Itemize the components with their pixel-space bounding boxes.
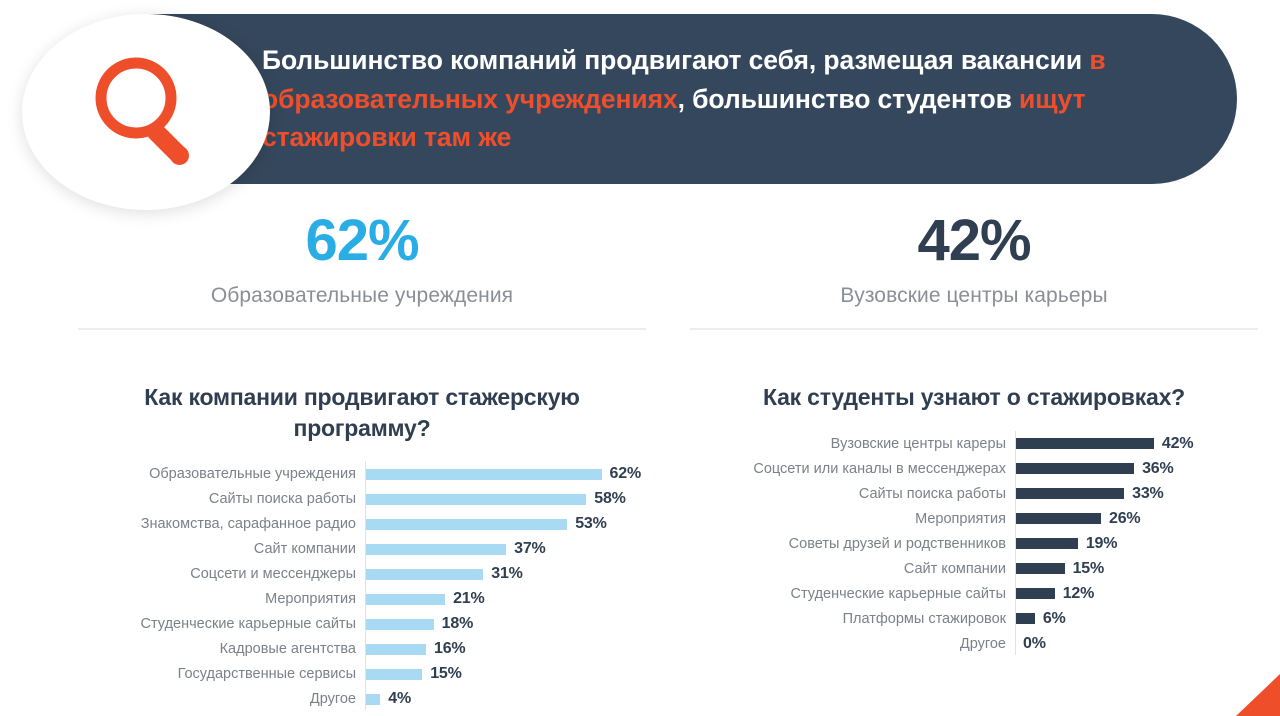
bar-label: Соцсети и мессенджеры bbox=[78, 566, 365, 582]
bar-row: Соцсети и мессенджеры31% bbox=[78, 565, 646, 583]
bar-track: 26% bbox=[1015, 510, 1258, 528]
stat-block-career-centers: 42% Вузовские центры карьеры bbox=[690, 212, 1258, 330]
bar-label: Образовательные учреждения bbox=[78, 466, 365, 482]
bar-value: 0% bbox=[1023, 635, 1046, 653]
bar-value: 26% bbox=[1109, 510, 1140, 528]
bar-fill bbox=[365, 694, 380, 705]
bar-label: Сайты поиска работы bbox=[690, 486, 1015, 502]
header-banner: Большинство компаний продвигают себя, ра… bbox=[150, 14, 1237, 184]
chart-companies: Как компании продвигают стажерскую прогр… bbox=[78, 382, 646, 715]
bar-label: Знакомства, сарафанное радио bbox=[78, 516, 365, 532]
bar-fill bbox=[365, 469, 602, 480]
bar-track: 19% bbox=[1015, 535, 1258, 553]
bar-value: 15% bbox=[430, 665, 461, 683]
chart-title: Как компании продвигают стажерскую прогр… bbox=[78, 382, 646, 443]
header-title-run: Большинство компаний продвигают себя, ра… bbox=[262, 45, 1089, 75]
bar-value: 37% bbox=[514, 540, 545, 558]
bar-fill bbox=[1015, 463, 1134, 474]
bar-label: Другое bbox=[690, 636, 1015, 652]
bar-track: 6% bbox=[1015, 610, 1258, 628]
bar-value: 62% bbox=[610, 465, 641, 483]
bar-label: Мероприятия bbox=[690, 511, 1015, 527]
bar-value: 18% bbox=[442, 615, 473, 633]
bar-fill bbox=[365, 544, 506, 555]
bar-value: 15% bbox=[1073, 560, 1104, 578]
bar-track: 33% bbox=[1015, 485, 1258, 503]
stat-block-education: 62% Образовательные учреждения bbox=[78, 212, 646, 330]
bar-fill bbox=[365, 519, 567, 530]
bar-label: Сайты поиска работы bbox=[78, 491, 365, 507]
bar-label: Другое bbox=[78, 691, 365, 707]
chart-title: Как студенты узнают о стажировках? bbox=[690, 382, 1258, 413]
corner-accent-triangle bbox=[1236, 674, 1280, 716]
bar-row: Кадровые агентства16% bbox=[78, 640, 646, 658]
stat-value: 62% bbox=[78, 212, 646, 270]
magnifier-badge bbox=[22, 14, 270, 210]
bar-row: Сайты поиска работы33% bbox=[690, 485, 1258, 503]
bar-fill bbox=[365, 494, 586, 505]
bar-rows: Образовательные учреждения62%Сайты поиск… bbox=[78, 465, 646, 708]
bar-value: 12% bbox=[1063, 585, 1094, 603]
bar-fill bbox=[365, 619, 434, 630]
bar-row: Советы друзей и родственников19% bbox=[690, 535, 1258, 553]
bar-row: Другое4% bbox=[78, 690, 646, 708]
bar-row: Другое0% bbox=[690, 635, 1258, 653]
bar-label: Сайт компании bbox=[78, 541, 365, 557]
bar-fill bbox=[365, 569, 483, 580]
bar-track: 21% bbox=[365, 590, 646, 608]
bar-row: Государственные сервисы15% bbox=[78, 665, 646, 683]
bar-value: 19% bbox=[1086, 535, 1117, 553]
bar-row: Мероприятия21% bbox=[78, 590, 646, 608]
bar-row: Образовательные учреждения62% bbox=[78, 465, 646, 483]
bar-track: 53% bbox=[365, 515, 646, 533]
bar-value: 4% bbox=[388, 690, 411, 708]
bar-fill bbox=[1015, 488, 1124, 499]
bar-row: Сайты поиска работы58% bbox=[78, 490, 646, 508]
bar-track: 4% bbox=[365, 690, 646, 708]
bar-track: 31% bbox=[365, 565, 646, 583]
bar-label: Платформы стажировок bbox=[690, 611, 1015, 627]
bar-value: 21% bbox=[453, 590, 484, 608]
bar-track: 15% bbox=[365, 665, 646, 683]
header-title-run: , большинство студентов bbox=[678, 84, 1019, 114]
bar-label: Сайт компании bbox=[690, 561, 1015, 577]
bar-row: Вузовские центры кареры42% bbox=[690, 435, 1258, 453]
bar-fill bbox=[365, 644, 426, 655]
stat-divider bbox=[690, 328, 1258, 330]
stat-label: Вузовские центры карьеры bbox=[690, 284, 1258, 308]
bar-track: 18% bbox=[365, 615, 646, 633]
bar-row: Платформы стажировок6% bbox=[690, 610, 1258, 628]
bar-track: 12% bbox=[1015, 585, 1258, 603]
bar-fill bbox=[365, 594, 445, 605]
bar-value: 53% bbox=[575, 515, 606, 533]
bar-row: Студенческие карьерные сайты12% bbox=[690, 585, 1258, 603]
bar-track: 16% bbox=[365, 640, 646, 658]
bar-value: 33% bbox=[1132, 485, 1163, 503]
magnifier-icon bbox=[80, 46, 212, 178]
bar-row: Студенческие карьерные сайты18% bbox=[78, 615, 646, 633]
bar-row: Знакомства, сарафанное радио53% bbox=[78, 515, 646, 533]
bar-fill bbox=[1015, 613, 1035, 624]
bar-track: 58% bbox=[365, 490, 646, 508]
bar-track: 15% bbox=[1015, 560, 1258, 578]
stat-divider bbox=[78, 328, 646, 330]
bar-track: 42% bbox=[1015, 435, 1258, 453]
header-title: Большинство компаний продвигают себя, ра… bbox=[262, 41, 1177, 156]
bar-label: Студенческие карьерные сайты bbox=[690, 586, 1015, 602]
bar-label: Мероприятия bbox=[78, 591, 365, 607]
bar-value: 16% bbox=[434, 640, 465, 658]
bar-fill bbox=[1015, 563, 1065, 574]
bar-value: 36% bbox=[1142, 460, 1173, 478]
bar-track: 62% bbox=[365, 465, 646, 483]
bar-fill bbox=[365, 669, 422, 680]
bar-value: 6% bbox=[1043, 610, 1066, 628]
bar-track: 0% bbox=[1015, 635, 1258, 653]
bar-label: Студенческие карьерные сайты bbox=[78, 616, 365, 632]
bar-row: Сайт компании37% bbox=[78, 540, 646, 558]
bar-fill bbox=[1015, 438, 1154, 449]
bar-label: Соцсети или каналы в мессенджерах bbox=[690, 461, 1015, 477]
bar-row: Мероприятия26% bbox=[690, 510, 1258, 528]
bar-track: 36% bbox=[1015, 460, 1258, 478]
bar-value: 42% bbox=[1162, 435, 1193, 453]
bar-fill bbox=[1015, 538, 1078, 549]
bar-label: Советы друзей и родственников bbox=[690, 536, 1015, 552]
bar-rows: Вузовские центры кареры42%Соцсети или ка… bbox=[690, 435, 1258, 653]
bar-row: Сайт компании15% bbox=[690, 560, 1258, 578]
bar-fill bbox=[1015, 588, 1055, 599]
stat-label: Образовательные учреждения bbox=[78, 284, 646, 308]
bar-label: Кадровые агентства bbox=[78, 641, 365, 657]
bar-track: 37% bbox=[365, 540, 646, 558]
bar-fill bbox=[1015, 513, 1101, 524]
bar-label: Государственные сервисы bbox=[78, 666, 365, 682]
bar-value: 58% bbox=[594, 490, 625, 508]
bar-row: Соцсети или каналы в мессенджерах36% bbox=[690, 460, 1258, 478]
bar-value: 31% bbox=[491, 565, 522, 583]
chart-students: Как студенты узнают о стажировках? Вузов… bbox=[690, 382, 1258, 660]
stat-value: 42% bbox=[690, 212, 1258, 270]
bar-label: Вузовские центры кареры bbox=[690, 436, 1015, 452]
